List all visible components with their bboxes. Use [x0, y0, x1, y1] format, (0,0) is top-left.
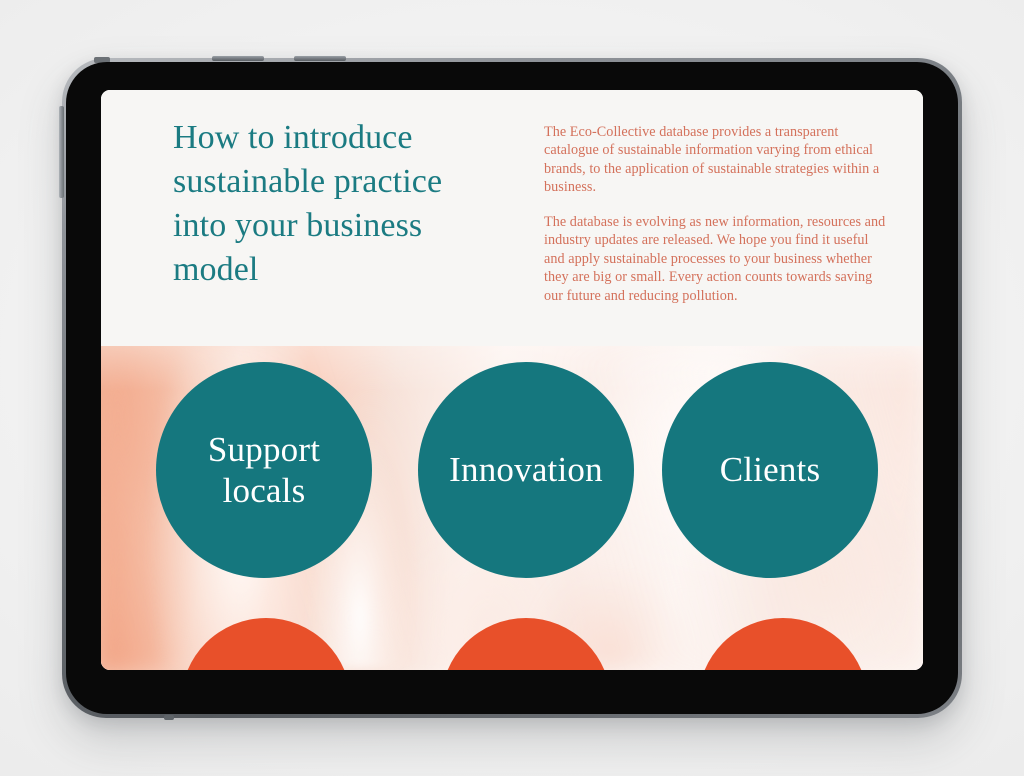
circle-clients[interactable]: Clients [662, 362, 878, 578]
slide-photo-band: Support locals Innovation Clients [101, 346, 923, 670]
circle-clients-label: Clients [720, 449, 821, 490]
circle-innovation[interactable]: Innovation [418, 362, 634, 578]
circle-label-line-2: locals [208, 470, 320, 511]
circle-support-locals-label: Support locals [208, 429, 320, 512]
power-side-button[interactable] [59, 106, 64, 198]
screenshot-canvas: How to introduce sustainable practice in… [0, 0, 1024, 776]
device-bottom-port-nub [164, 715, 174, 720]
intro-paragraph-1: The Eco-Collective database provides a t… [544, 123, 889, 197]
tablet-device: How to introduce sustainable practice in… [62, 58, 962, 718]
tablet-screen[interactable]: How to introduce sustainable practice in… [101, 90, 923, 670]
slide-headline: How to introduce sustainable practice in… [173, 116, 503, 291]
volume-down-button[interactable] [294, 56, 346, 61]
circle-innovation-label: Innovation [449, 449, 603, 490]
slide-intro-column: The Eco-Collective database provides a t… [544, 116, 889, 305]
slide-text-panel: How to introduce sustainable practice in… [101, 90, 923, 346]
circle-label-line-1: Support [208, 429, 320, 470]
circle-support-locals[interactable]: Support locals [156, 362, 372, 578]
intro-paragraph-2: The database is evolving as new informat… [544, 213, 889, 305]
presentation-slide: How to introduce sustainable practice in… [101, 90, 923, 670]
volume-up-button[interactable] [212, 56, 264, 61]
